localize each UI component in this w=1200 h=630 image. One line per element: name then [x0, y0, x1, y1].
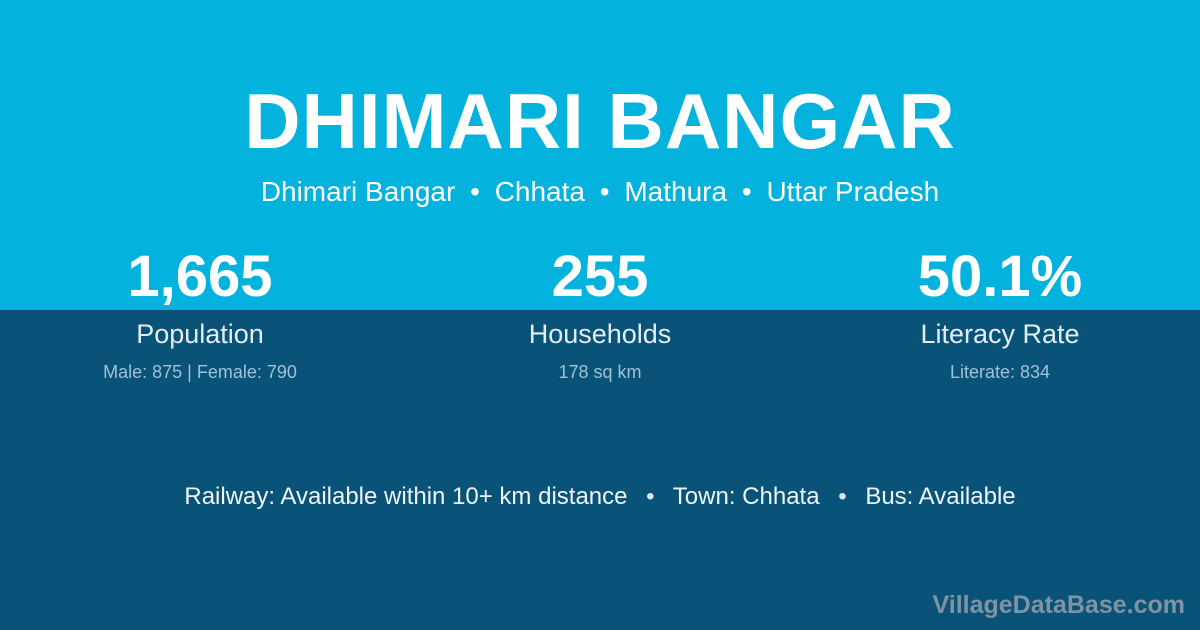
stat-households: 255 Households 178 sq km — [400, 248, 800, 381]
stat-value: 1,665 — [0, 248, 400, 306]
stat-sub: 178 sq km — [400, 363, 800, 381]
stat-literacy-rate: 50.1% Literacy Rate Literate: 834 — [800, 248, 1200, 381]
stat-sub: Male: 875 | Female: 790 — [0, 363, 400, 381]
breadcrumb-separator-2: • — [593, 176, 617, 207]
info-bus: Bus: Available — [865, 483, 1015, 510]
breadcrumb: Dhimari Bangar • Chhata • Mathura • Utta… — [0, 160, 1200, 206]
breadcrumb-separator-3: • — [735, 176, 759, 207]
breadcrumb-state: Uttar Pradesh — [766, 176, 939, 207]
stat-value: 255 — [400, 248, 800, 306]
stat-sub: Literate: 834 — [800, 363, 1200, 381]
info-separator-2: • — [826, 483, 858, 510]
header: DHIMARI BANGAR Dhimari Bangar • Chhata •… — [0, 0, 1200, 206]
stat-population: 1,665 Population Male: 875 | Female: 790 — [0, 248, 400, 381]
breadcrumb-separator-1: • — [463, 176, 487, 207]
info-town: Town: Chhata — [673, 483, 820, 510]
info-railway: Railway: Available within 10+ km distanc… — [184, 483, 627, 510]
stat-label: Literacy Rate — [800, 321, 1200, 348]
breadcrumb-village: Dhimari Bangar — [261, 176, 456, 207]
breadcrumb-district: Mathura — [624, 176, 727, 207]
info-separator-1: • — [634, 483, 666, 510]
page-title: DHIMARI BANGAR — [0, 0, 1200, 160]
village-info-card: DHIMARI BANGAR Dhimari Bangar • Chhata •… — [0, 0, 1200, 630]
stat-label: Population — [0, 321, 400, 348]
stats-row: 1,665 Population Male: 875 | Female: 790… — [0, 248, 1200, 381]
stat-value: 50.1% — [800, 248, 1200, 306]
site-watermark: VillageDataBase.com — [933, 593, 1185, 618]
stat-label: Households — [400, 321, 800, 348]
amenities-info-line: Railway: Available within 10+ km distanc… — [0, 485, 1200, 509]
breadcrumb-block: Chhata — [495, 176, 585, 207]
